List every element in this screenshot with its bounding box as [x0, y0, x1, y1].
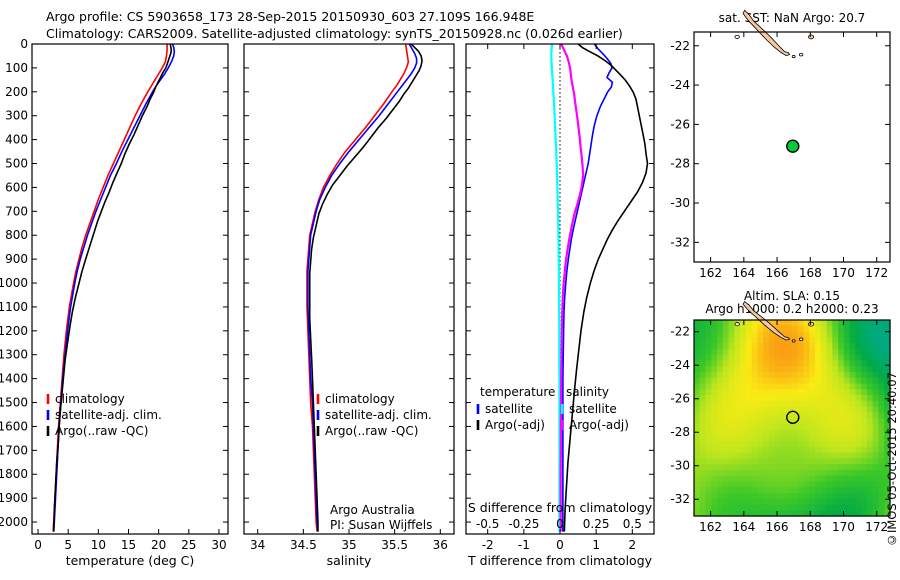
sla-cell: [729, 435, 735, 441]
sla-cell: [780, 349, 786, 355]
sla-cell: [798, 476, 804, 482]
sla-cell: [815, 493, 821, 499]
sla-cell: [769, 389, 775, 395]
sla-cell: [815, 424, 821, 430]
sla-cell: [873, 383, 879, 389]
sla-cell: [729, 481, 735, 487]
series-argo-raw-qc-: [310, 44, 422, 532]
sla-cell: [711, 389, 717, 395]
sla-cell: [711, 493, 717, 499]
sla-cell: [694, 337, 700, 343]
sla-cell: [694, 326, 700, 332]
sla-cell: [832, 349, 838, 355]
sla-cell: [838, 481, 844, 487]
sla-cell: [757, 378, 763, 384]
sla-cell: [729, 458, 735, 464]
map-x-tick-label: 172: [865, 266, 888, 280]
sla-cell: [861, 487, 867, 493]
sla-cell: [711, 418, 717, 424]
sla-cell: [746, 320, 752, 326]
sla-cell: [821, 372, 827, 378]
sla-cell: [867, 504, 873, 510]
sla-cell: [700, 430, 706, 436]
sla-cell: [850, 470, 856, 476]
sla-cell: [873, 326, 879, 332]
sla-cell: [786, 481, 792, 487]
sla-cell: [717, 481, 723, 487]
sla-map-title-line1: Altim. SLA: 0.15: [744, 289, 840, 303]
sla-cell: [804, 504, 810, 510]
sla-cell: [827, 499, 833, 505]
sla-cell: [746, 424, 752, 430]
legend-label: satellite-adj. clim.: [325, 408, 432, 422]
sla-cell: [867, 458, 873, 464]
sla-cell: [706, 360, 712, 366]
sla-cell: [769, 418, 775, 424]
sst-map[interactable]: sat. SST: NaN Argo: 20.71621641661681701…: [662, 6, 900, 292]
sla-cell: [780, 326, 786, 332]
sla-cell: [821, 401, 827, 407]
x-tick-label: 20: [151, 538, 166, 552]
sla-cell: [740, 389, 746, 395]
sla-cell: [815, 337, 821, 343]
sla-cell: [769, 504, 775, 510]
sla-cell: [717, 487, 723, 493]
sla-cell: [855, 504, 861, 510]
sla-cell: [878, 487, 884, 493]
sla-cell: [757, 435, 763, 441]
x-tick-label: 34.5: [290, 538, 317, 552]
sla-cell: [711, 383, 717, 389]
sla-cell: [706, 401, 712, 407]
sla-cell: [694, 355, 700, 361]
sla-cell: [855, 406, 861, 412]
map-y-tick-label: -24: [670, 358, 690, 372]
sla-cell: [815, 320, 821, 326]
sla-cell: [798, 493, 804, 499]
y-tick-label: 1800: [0, 467, 28, 481]
sla-cell: [809, 470, 815, 476]
sla-cell: [850, 493, 856, 499]
sla-cell: [832, 487, 838, 493]
sla-cell: [746, 360, 752, 366]
sla-cell: [798, 499, 804, 505]
sla-cell: [694, 435, 700, 441]
sla-cell: [780, 355, 786, 361]
sla-cell: [804, 458, 810, 464]
sla-cell: [844, 487, 850, 493]
sla-map-title-line2: Argo h1000: 0.2 h2000: 0.23: [705, 302, 878, 316]
sla-cell: [717, 499, 723, 505]
sla-cell: [809, 499, 815, 505]
sla-cell: [717, 476, 723, 482]
sla-cell: [855, 349, 861, 355]
sla-cell: [775, 499, 781, 505]
sla-cell: [844, 372, 850, 378]
sla-cell: [780, 378, 786, 384]
sla-cell: [763, 441, 769, 447]
sla-cell: [867, 383, 873, 389]
sla-cell: [792, 435, 798, 441]
sla-cell: [734, 493, 740, 499]
sla-cell: [786, 378, 792, 384]
sla-cell: [809, 337, 815, 343]
sla-cell: [838, 332, 844, 338]
sla-cell: [815, 458, 821, 464]
sla-cell: [878, 337, 884, 343]
map-x-tick-label: 162: [699, 520, 722, 534]
sla-cell: [752, 343, 758, 349]
sla-cell: [809, 360, 815, 366]
sla-cell: [786, 320, 792, 326]
sla-cell: [752, 418, 758, 424]
sla-cell: [844, 481, 850, 487]
sla-cell: [717, 389, 723, 395]
sla-cell: [757, 401, 763, 407]
sla-cell: [821, 395, 827, 401]
sla-cell: [832, 430, 838, 436]
sla-cell: [752, 447, 758, 453]
sla-cell: [711, 464, 717, 470]
sla-cell: [827, 470, 833, 476]
sla-cell: [792, 504, 798, 510]
sla-cell: [873, 412, 879, 418]
sla-cell: [827, 343, 833, 349]
sla-cell: [786, 458, 792, 464]
sla-cell: [815, 470, 821, 476]
sla-cell: [734, 355, 740, 361]
sla-cell: [706, 355, 712, 361]
title-line-1: Argo profile: CS 5903658_173 28-Sep-2015…: [46, 8, 623, 25]
sla-cell: [694, 447, 700, 453]
sla-cell: [700, 343, 706, 349]
sla-cell: [763, 447, 769, 453]
sla-cell: [786, 470, 792, 476]
sla-cell: [780, 372, 786, 378]
sla-cell: [734, 412, 740, 418]
map-y-tick-label: -24: [670, 78, 690, 92]
sla-cell: [792, 401, 798, 407]
sla-cell: [780, 504, 786, 510]
sla-cell: [780, 470, 786, 476]
sla-cell: [769, 430, 775, 436]
sla-cell: [873, 320, 879, 326]
sla-cell: [867, 430, 873, 436]
sla-cell: [878, 349, 884, 355]
sla-cell: [763, 493, 769, 499]
sla-cell: [804, 406, 810, 412]
sla-cell: [769, 493, 775, 499]
map-x-tick-label: 170: [832, 266, 855, 280]
x-axis-label: temperature (deg C): [66, 553, 195, 568]
sla-cell: [700, 435, 706, 441]
sla-cell: [838, 447, 844, 453]
temperature-plot[interactable]: 0100200300400500600700800900100011001200…: [0, 38, 240, 578]
sla-cell: [706, 343, 712, 349]
sla-cell: [827, 464, 833, 470]
sla-cell: [861, 395, 867, 401]
sla-cell: [786, 326, 792, 332]
sla-cell: [821, 337, 827, 343]
sla-cell: [711, 458, 717, 464]
map-x-tick-label: 166: [766, 266, 789, 280]
sla-cell: [729, 383, 735, 389]
sla-cell: [775, 343, 781, 349]
top-axis-label: S difference from climatology: [468, 500, 653, 515]
sla-cell: [740, 366, 746, 372]
sla-cell: [861, 418, 867, 424]
sla-cell: [878, 378, 884, 384]
sla-cell: [867, 424, 873, 430]
sla-cell: [850, 464, 856, 470]
sla-map[interactable]: Altim. SLA: 0.15Argo h1000: 0.2 h2000: 0…: [662, 288, 900, 553]
sla-cell: [734, 458, 740, 464]
sla-cell: [878, 424, 884, 430]
sla-cell: [740, 349, 746, 355]
sla-cell: [798, 481, 804, 487]
x-tick-label: 0: [34, 538, 42, 552]
sla-cell: [734, 499, 740, 505]
sla-cell: [717, 441, 723, 447]
sla-cell: [734, 447, 740, 453]
sla-cell: [723, 337, 729, 343]
sla-cell: [763, 372, 769, 378]
sla-cell: [780, 447, 786, 453]
y-tick-label: 800: [5, 228, 28, 242]
sla-cell: [827, 418, 833, 424]
sla-cell: [792, 458, 798, 464]
sla-cell: [798, 464, 804, 470]
sla-cell: [746, 326, 752, 332]
sla-cell: [827, 378, 833, 384]
sla-cell: [700, 372, 706, 378]
map-x-tick-label: 168: [799, 520, 822, 534]
sla-cell: [861, 464, 867, 470]
sla-cell: [780, 366, 786, 372]
argo-position-marker[interactable]: [787, 140, 799, 152]
sla-cell: [786, 424, 792, 430]
map-y-tick-label: -26: [670, 392, 690, 406]
sla-cell: [723, 418, 729, 424]
sla-cell: [850, 453, 856, 459]
sla-cell: [700, 481, 706, 487]
sla-cell: [763, 343, 769, 349]
sla-cell: [769, 395, 775, 401]
sla-cell: [809, 481, 815, 487]
sla-cell: [878, 481, 884, 487]
sla-cell: [804, 349, 810, 355]
sla-cell: [740, 476, 746, 482]
sla-cell: [706, 395, 712, 401]
sla-cell: [752, 326, 758, 332]
sla-cell: [844, 418, 850, 424]
sla-cell: [821, 366, 827, 372]
sla-cell: [873, 487, 879, 493]
sla-cell: [717, 470, 723, 476]
sla-cell: [873, 424, 879, 430]
sla-cell: [734, 349, 740, 355]
series-salinity-argo-adj-: [561, 44, 583, 532]
sla-cell: [809, 430, 815, 436]
sla-cell: [844, 406, 850, 412]
sla-cell: [740, 412, 746, 418]
sla-cell: [763, 453, 769, 459]
sla-cell: [850, 355, 856, 361]
sla-cell: [740, 458, 746, 464]
sla-cell: [786, 372, 792, 378]
sla-cell: [717, 464, 723, 470]
x-tick-label: 2: [628, 538, 636, 552]
sla-cell: [723, 355, 729, 361]
sla-cell: [873, 401, 879, 407]
sla-cell: [804, 418, 810, 424]
sla-cell: [717, 378, 723, 384]
sla-cell: [711, 441, 717, 447]
sla-cell: [809, 458, 815, 464]
sla-cell: [821, 320, 827, 326]
sla-cell: [838, 326, 844, 332]
sla-cell: [729, 447, 735, 453]
sla-cell: [878, 320, 884, 326]
sla-cell: [723, 481, 729, 487]
sla-cell: [752, 499, 758, 505]
sla-cell: [838, 406, 844, 412]
sla-cell: [798, 378, 804, 384]
sla-cell: [734, 360, 740, 366]
sla-cell: [873, 372, 879, 378]
sla-cell: [832, 378, 838, 384]
sla-cell: [850, 378, 856, 384]
sla-cell: [723, 487, 729, 493]
sla-cell: [757, 499, 763, 505]
sla-cell: [804, 389, 810, 395]
sla-cell: [878, 464, 884, 470]
sla-cell: [700, 366, 706, 372]
sla-cell: [867, 332, 873, 338]
sla-cell: [809, 406, 815, 412]
sla-cell: [821, 418, 827, 424]
sla-cell: [832, 401, 838, 407]
sla-cell: [821, 499, 827, 505]
sla-cell: [746, 355, 752, 361]
sla-cell: [861, 504, 867, 510]
sla-cell: [734, 343, 740, 349]
sla-cell: [729, 326, 735, 332]
sla-cell: [763, 424, 769, 430]
sla-cell: [734, 441, 740, 447]
sla-cell: [746, 349, 752, 355]
sla-cell: [827, 441, 833, 447]
sla-cell: [723, 360, 729, 366]
sla-cell: [746, 401, 752, 407]
sla-cell: [798, 447, 804, 453]
sla-cell: [844, 441, 850, 447]
sla-cell: [809, 418, 815, 424]
sla-cell: [700, 424, 706, 430]
sla-cell: [855, 412, 861, 418]
sla-cell: [804, 337, 810, 343]
x-axis-label: T difference from climatology: [467, 553, 653, 568]
sla-cell: [775, 435, 781, 441]
sla-cell: [734, 504, 740, 510]
sla-cell: [873, 406, 879, 412]
sla-cell: [798, 487, 804, 493]
sla-cell: [769, 470, 775, 476]
sla-cell: [700, 447, 706, 453]
sla-cell: [729, 378, 735, 384]
y-tick-label: 600: [5, 180, 28, 194]
sla-cell: [729, 349, 735, 355]
sla-cell: [809, 504, 815, 510]
sla-cell: [867, 481, 873, 487]
sla-cell: [827, 458, 833, 464]
sla-cell: [775, 453, 781, 459]
sla-cell: [798, 424, 804, 430]
sla-cell: [746, 499, 752, 505]
sla-cell: [711, 447, 717, 453]
sla-cell: [827, 337, 833, 343]
sla-cell: [873, 493, 879, 499]
sla-cell: [740, 406, 746, 412]
sla-cell: [740, 343, 746, 349]
difference-plot[interactable]: -2-1012T difference from climatologytemp…: [462, 38, 662, 578]
sla-cell: [729, 366, 735, 372]
x-tick-label: 35: [341, 538, 356, 552]
sla-cell: [815, 366, 821, 372]
sla-cell: [786, 493, 792, 499]
sla-cell: [821, 412, 827, 418]
sla-cell: [873, 476, 879, 482]
sla-cell: [694, 458, 700, 464]
sla-cell: [740, 332, 746, 338]
sla-cell: [780, 435, 786, 441]
sla-cell: [832, 343, 838, 349]
sla-cell: [838, 412, 844, 418]
sla-cell: [757, 441, 763, 447]
sla-cell: [746, 435, 752, 441]
sla-cell: [711, 401, 717, 407]
sla-cell: [827, 355, 833, 361]
sla-cell: [717, 320, 723, 326]
sla-cell: [723, 383, 729, 389]
sla-cell: [757, 332, 763, 338]
small-island: [735, 323, 739, 326]
legend-label: Argo(..raw -QC): [55, 424, 148, 438]
sla-cell: [815, 487, 821, 493]
sla-cell: [740, 493, 746, 499]
sla-cell: [700, 487, 706, 493]
sla-cell: [798, 458, 804, 464]
sla-cell: [700, 360, 706, 366]
sla-cell: [873, 453, 879, 459]
sla-cell: [734, 418, 740, 424]
sla-cell: [821, 447, 827, 453]
sla-cell: [706, 383, 712, 389]
sla-cell: [861, 389, 867, 395]
sla-cell: [711, 378, 717, 384]
sla-cell: [878, 476, 884, 482]
sla-cell: [763, 337, 769, 343]
sla-cell: [832, 453, 838, 459]
sla-cell: [815, 435, 821, 441]
sla-cell: [844, 499, 850, 505]
y-tick-label: 100: [5, 61, 28, 75]
salinity-plot[interactable]: 3434.53535.536salinityclimatologysatelli…: [240, 38, 462, 578]
y-tick-label: 0: [20, 37, 28, 51]
sla-cell: [850, 418, 856, 424]
sla-cell: [780, 441, 786, 447]
sla-cell: [838, 372, 844, 378]
